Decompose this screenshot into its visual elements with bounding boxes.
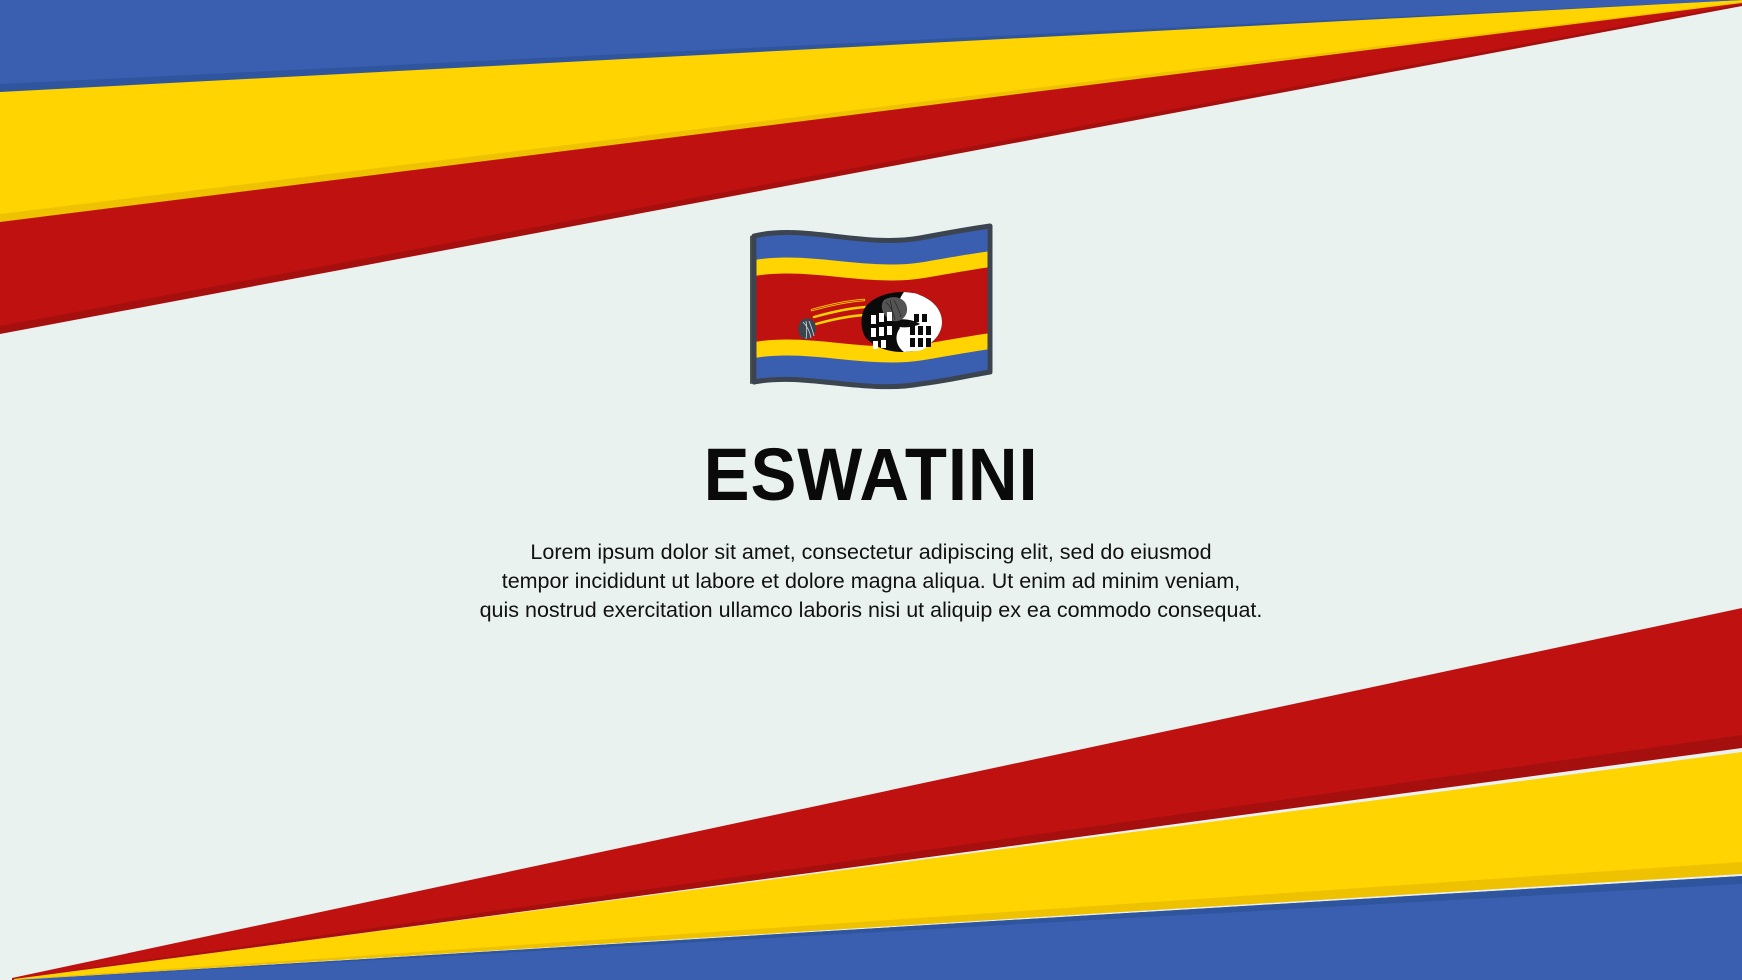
subtitle-line-1: Lorem ipsum dolor sit amet, consectetur … (471, 538, 1271, 567)
page-title: ESWATINI (704, 438, 1039, 512)
subtitle-line-3: quis nostrud exercitation ullamco labori… (471, 596, 1271, 625)
subtitle-paragraph: Lorem ipsum dolor sit amet, consectetur … (471, 538, 1271, 626)
flag-container (744, 222, 998, 394)
poster-canvas: ESWATINI Lorem ipsum dolor sit amet, con… (0, 0, 1742, 980)
poster-content: ESWATINI Lorem ipsum dolor sit amet, con… (0, 0, 1742, 980)
eswatini-flag-icon (744, 222, 998, 394)
flag-stripes (744, 222, 998, 394)
subtitle-line-2: tempor incididunt ut labore et dolore ma… (471, 567, 1271, 596)
